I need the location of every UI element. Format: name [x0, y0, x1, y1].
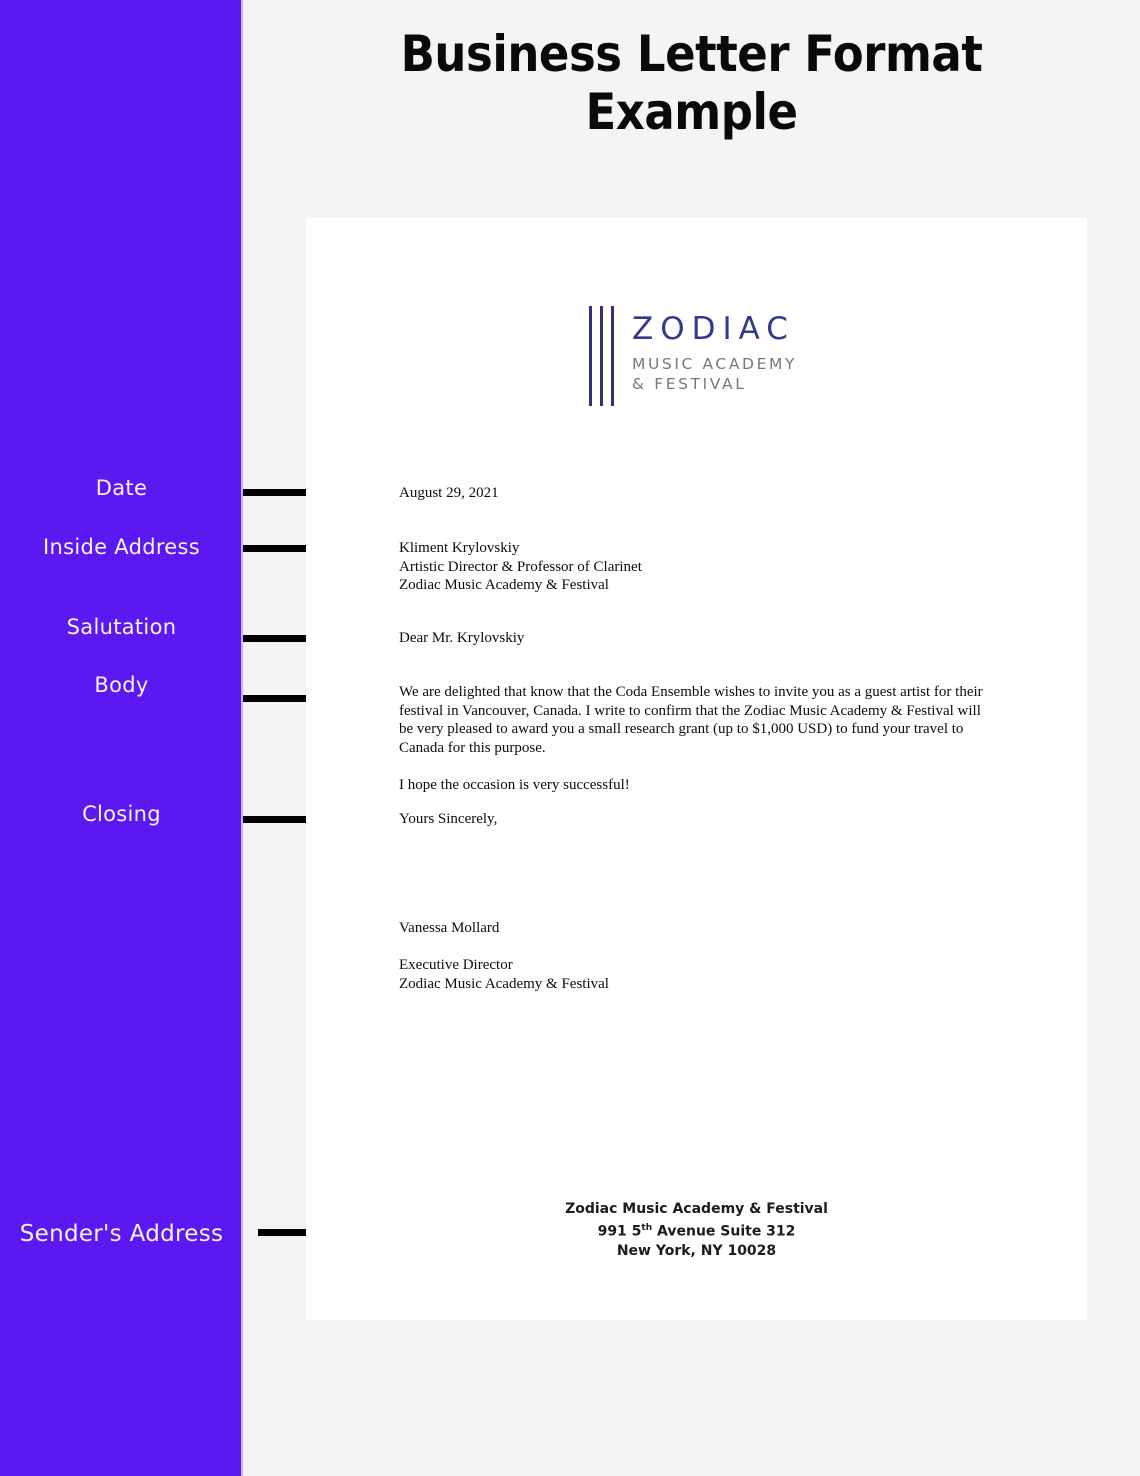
logo-bar: [611, 306, 614, 406]
sidebar-item-inside-address: Inside Address: [0, 535, 243, 560]
zodiac-logo: ZODIAC MUSIC ACADEMY & FESTIVAL: [589, 304, 797, 406]
sender-address-line3: New York, NY 10028: [306, 1242, 1087, 1261]
signature-name: Vanessa Mollard: [399, 919, 609, 938]
logo-tagline: MUSIC ACADEMY & FESTIVAL: [632, 354, 797, 395]
sender-address-line2-prefix: 991 5: [598, 1224, 642, 1240]
sender-address-block: Zodiac Music Academy & Festival 991 5th …: [306, 1200, 1087, 1261]
letter-salutation: Dear Mr. Krylovskiy: [399, 629, 524, 648]
body-spacer: [399, 757, 991, 776]
sender-address-line2-suffix: Avenue Suite 312: [652, 1224, 795, 1240]
signature-organization: Zodiac Music Academy & Festival: [399, 975, 609, 994]
letter-body: We are delighted that know that the Coda…: [399, 683, 991, 795]
sender-address-ordinal: th: [641, 1223, 652, 1233]
logo-wordmark: ZODIAC: [632, 314, 797, 345]
sender-address-line2: 991 5th Avenue Suite 312: [306, 1219, 1087, 1242]
logo-tagline-line1: MUSIC ACADEMY: [632, 354, 797, 374]
inside-address-line2: Artistic Director & Professor of Clarine…: [399, 558, 642, 577]
letter-inside-address: Kliment Krylovskiy Artistic Director & P…: [399, 539, 642, 595]
body-paragraph-1: We are delighted that know that the Coda…: [399, 683, 991, 757]
inside-address-line1: Kliment Krylovskiy: [399, 539, 642, 558]
logo-bars-icon: [589, 304, 614, 406]
sidebar-item-senders-address: Sender's Address: [0, 1221, 243, 1249]
signature-title: Executive Director: [399, 956, 609, 975]
logo-bar: [589, 306, 592, 406]
logo-tagline-line2: & FESTIVAL: [632, 374, 797, 394]
sidebar-item-body: Body: [0, 673, 243, 698]
sidebar: [0, 0, 243, 1476]
logo-bar: [600, 306, 603, 406]
sidebar-item-date: Date: [0, 476, 243, 501]
signature-spacer: [399, 938, 609, 957]
closing-text: Yours Sincerely,: [399, 810, 497, 829]
sidebar-item-closing: Closing: [0, 802, 243, 827]
sidebar-item-salutation: Salutation: [0, 615, 243, 640]
salutation-text: Dear Mr. Krylovskiy: [399, 629, 524, 648]
letter-date-text: August 29, 2021: [399, 484, 499, 503]
letter-signature: Vanessa Mollard Executive Director Zodia…: [399, 919, 609, 993]
body-paragraph-2: I hope the occasion is very successful!: [399, 776, 991, 795]
letter-date: August 29, 2021: [399, 484, 499, 503]
page-title: Business Letter Format Example: [288, 25, 1095, 141]
inside-address-line3: Zodiac Music Academy & Festival: [399, 576, 642, 595]
logo-text: ZODIAC MUSIC ACADEMY & FESTIVAL: [632, 304, 797, 395]
sender-address-line1: Zodiac Music Academy & Festival: [306, 1200, 1087, 1219]
letter-closing: Yours Sincerely,: [399, 810, 497, 829]
